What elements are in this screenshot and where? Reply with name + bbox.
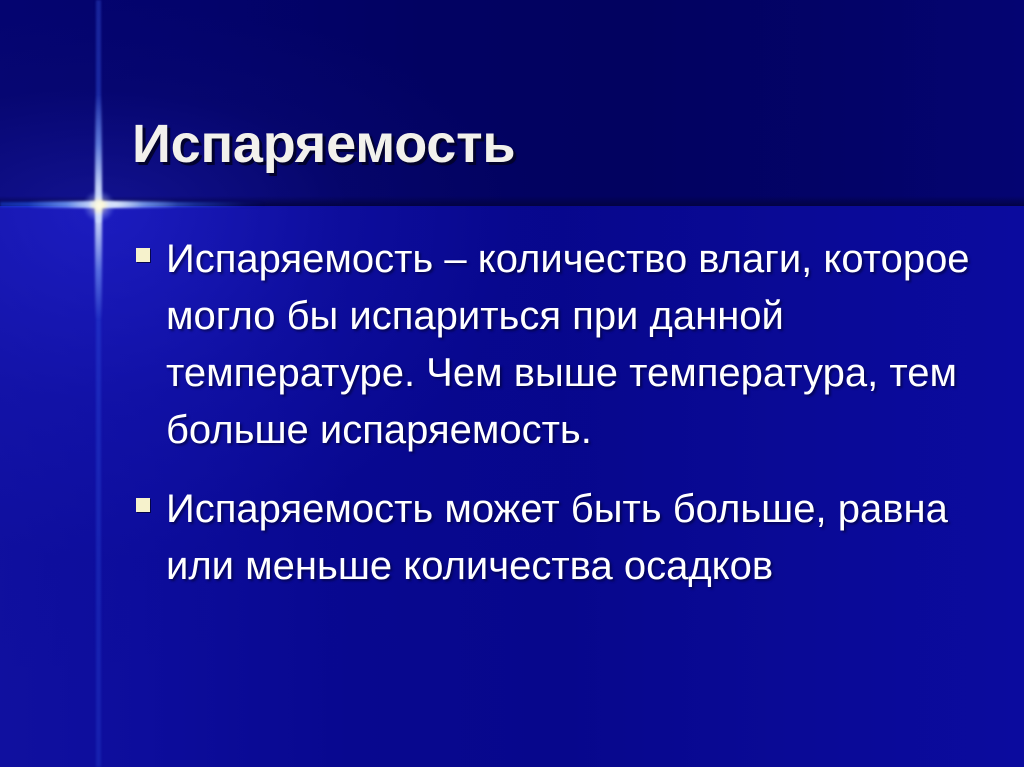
square-bullet-icon [136,248,150,262]
slide-body-content: Испаряемость – количество влаги, которое… [130,231,975,617]
bullet-list-item: Испаряемость – количество влаги, которое… [130,231,975,459]
bullet-list-item: Испаряемость может быть больше, равна ил… [130,481,975,595]
bullet-item-text: Испаряемость может быть больше, равна ил… [166,487,948,588]
square-bullet-icon [136,498,150,512]
presentation-slide: Испаряемость Испаряемость – количество в… [0,0,1024,767]
slide-title: Испаряемость [132,113,972,175]
bullet-item-text: Испаряемость – количество влаги, которое… [166,237,970,452]
